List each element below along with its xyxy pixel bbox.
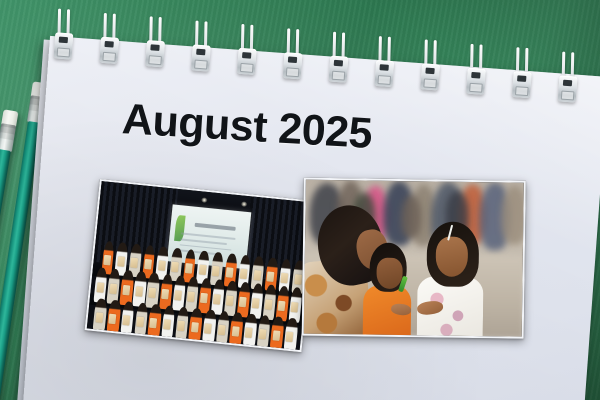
coil-clip [466, 67, 486, 94]
certificate [226, 295, 234, 306]
spiral-coil [465, 43, 489, 100]
photo-stage-ceremony[interactable] [85, 179, 317, 352]
certificate [231, 326, 239, 337]
spiral-coil [419, 39, 443, 96]
coil-clip [53, 32, 73, 59]
certificate [185, 263, 193, 274]
child-middle-face [376, 258, 403, 289]
spiral-coil [327, 32, 351, 89]
certificate [187, 291, 195, 302]
kids-scene [304, 180, 524, 337]
certificate [103, 255, 111, 266]
certificate [136, 316, 144, 327]
coil-clip [374, 59, 394, 86]
coil-clip [558, 75, 578, 102]
stage-scene [87, 181, 315, 350]
desk-calendar[interactable]: August 2025 [21, 10, 600, 400]
certificate [200, 292, 208, 303]
certificate [96, 282, 104, 293]
certificate [174, 290, 182, 301]
certificate [161, 289, 169, 300]
certificate [213, 294, 221, 305]
stage-downlight [201, 197, 207, 203]
certificate [259, 328, 267, 339]
spiral-coil [281, 28, 305, 85]
certificate [239, 296, 247, 307]
certificate [148, 287, 156, 298]
certificate [226, 267, 234, 278]
coil-clip [512, 71, 532, 98]
certificate [239, 268, 247, 279]
spiral-coil [190, 20, 214, 77]
certificate [117, 256, 125, 267]
certificate [130, 257, 138, 268]
certificate [265, 299, 273, 310]
certificate [294, 274, 302, 285]
certificate [109, 283, 117, 294]
coil-clip [191, 44, 211, 71]
coil-clip [145, 40, 165, 67]
certificate [204, 323, 212, 334]
spiral-coil [510, 47, 534, 104]
certificate [291, 302, 299, 313]
slide-heading [194, 223, 235, 232]
coil-clip [99, 36, 119, 63]
certificate [177, 320, 185, 331]
spiral-coil [144, 16, 168, 73]
certificate [158, 260, 166, 271]
photo-children-activity[interactable] [302, 178, 526, 339]
coil-clip [237, 48, 257, 75]
slide-logo [174, 215, 186, 241]
spiral-coil [98, 12, 122, 69]
slide-text-line [180, 238, 227, 244]
coil-clip [283, 52, 303, 79]
certificate [191, 322, 199, 333]
certificate [171, 262, 179, 273]
spiral-coil [373, 35, 397, 92]
certificate [253, 270, 261, 281]
certificate [122, 315, 130, 326]
certificate [95, 312, 103, 323]
certificate [144, 259, 152, 270]
certificate [245, 327, 253, 338]
blurred-background-crowd [306, 180, 524, 183]
certificate [252, 298, 260, 309]
certificate [278, 300, 286, 311]
certificate [163, 319, 171, 330]
crowd-silhouette [501, 185, 524, 244]
coil-clip [420, 63, 440, 90]
coil-clip [329, 56, 349, 83]
spiral-coil [556, 51, 580, 108]
certificate [198, 264, 206, 275]
certificate [267, 271, 275, 282]
certificate [122, 285, 130, 296]
desk-scene: August 2025 [0, 0, 600, 400]
certificate [135, 286, 143, 297]
crowd-silhouette [401, 195, 421, 238]
certificate [280, 273, 288, 284]
certificate [218, 324, 226, 335]
certificate [272, 330, 280, 341]
spiral-coil [235, 24, 259, 81]
spiral-coil [52, 8, 76, 65]
